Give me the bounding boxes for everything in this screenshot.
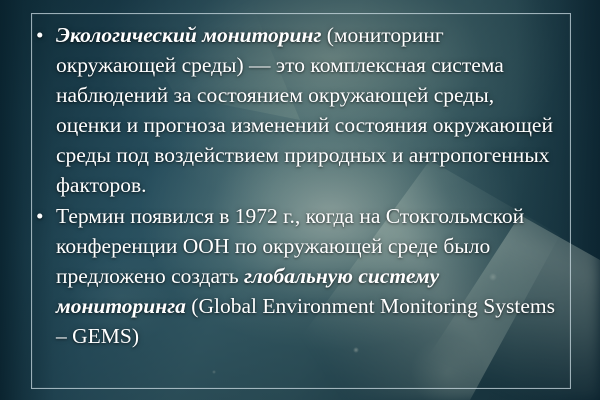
bullet-marker-icon: •: [36, 20, 56, 50]
bullet-1-definition: (мониторинг окружающей среды) — это комп…: [56, 23, 553, 197]
bullet-item-2: • Термин появился в 1972 г., когда на Ст…: [36, 201, 556, 351]
bullet-item-1: • Экологический мониторинг (мониторинг о…: [36, 20, 556, 200]
slide-body-text: • Экологический мониторинг (мониторинг о…: [36, 20, 556, 351]
presentation-slide: • Экологический мониторинг (мониторинг о…: [0, 0, 600, 400]
bullet-1-emphasis-term: Экологический мониторинг: [56, 23, 321, 47]
bullet-text-2: Термин появился в 1972 г., когда на Сток…: [56, 201, 556, 351]
bullet-marker-icon: •: [36, 201, 56, 231]
bullet-text-1: Экологический мониторинг (мониторинг окр…: [56, 20, 556, 200]
